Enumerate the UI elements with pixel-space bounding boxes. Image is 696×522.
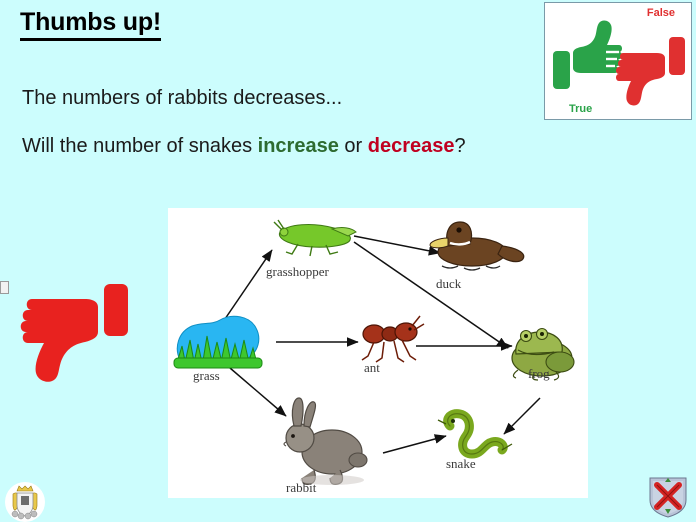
node-label-frog: frog [528, 366, 550, 382]
question-mark: ? [454, 135, 465, 157]
true-false-legend: True False [544, 2, 692, 120]
node-label-grasshopper: grasshopper [266, 264, 329, 280]
rabbit-icon [284, 398, 367, 485]
arrow-frog-to-snake [504, 398, 540, 434]
grasshopper-icon [274, 220, 356, 256]
statement-line: The numbers of rabbits decreases... [22, 86, 342, 110]
legend-false-label: False [647, 7, 675, 19]
food-web-diagram [168, 208, 588, 498]
node-label-duck: duck [436, 276, 461, 292]
snake-icon [438, 414, 512, 454]
arrow-grass-to-rabbit [230, 368, 286, 416]
page-title: Thumbs up! [20, 9, 161, 41]
grass-pond-icon [174, 316, 262, 368]
arrow-rabbit-to-snake [383, 436, 446, 453]
duck-icon [430, 222, 524, 270]
thumbs-down-icon [18, 276, 130, 382]
node-label-grass: grass [193, 368, 220, 384]
keyword-increase: increase [258, 135, 339, 157]
thumbs-down-icon [613, 29, 687, 113]
school-crest-icon [4, 482, 46, 522]
ant-icon [362, 316, 424, 362]
edge-marker [0, 281, 9, 294]
saltire-crest-icon [646, 474, 690, 518]
arrow-group [212, 236, 540, 453]
slide-canvas: Thumbs up! The numbers of rabbits decrea… [0, 0, 696, 522]
node-label-ant: ant [364, 360, 380, 376]
keyword-decrease: decrease [368, 135, 455, 157]
question-line: Will the number of snakes increase or de… [22, 134, 466, 158]
question-conjunction: or [339, 135, 368, 157]
food-web-panel: grasshopper duck grass ant frog rabbit s… [168, 208, 588, 498]
question-prefix: Will the number of snakes [22, 135, 258, 157]
legend-true-label: True [569, 103, 592, 115]
node-label-snake: snake [446, 456, 476, 472]
node-label-rabbit: rabbit [286, 480, 316, 496]
